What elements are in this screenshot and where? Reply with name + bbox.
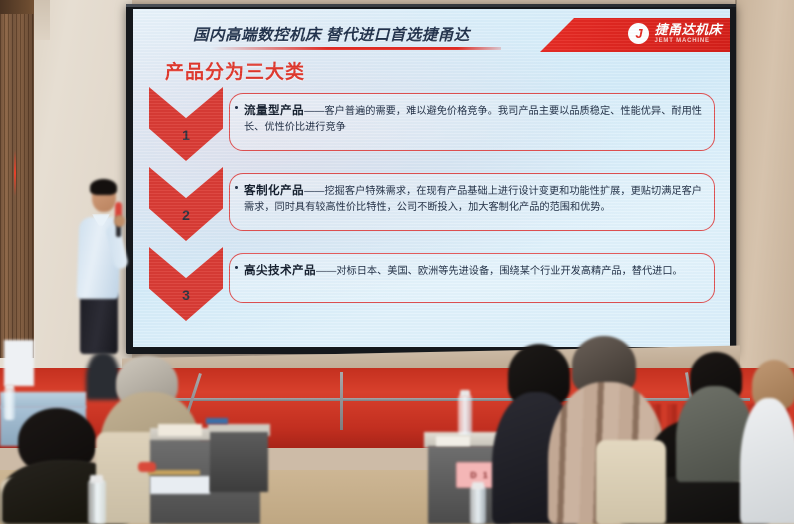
item-dash: ——: [316, 266, 336, 277]
left-poster: [4, 340, 34, 386]
bottle-cap: [472, 482, 484, 489]
water-bottle: [470, 486, 486, 524]
item-dash: ——: [304, 106, 324, 117]
chevron-outline: [149, 87, 223, 161]
table-pen: [148, 470, 200, 475]
item-term: 流量型产品: [244, 104, 304, 117]
chevron-marker-1: 1: [149, 87, 223, 161]
background-person: [86, 352, 120, 400]
bullet-point-icon: [235, 186, 238, 189]
banquet-chair: [596, 440, 666, 524]
slide-item-2: 2 客制化产品——挖掘客户特殊需求，在现有产品基础上进行设计变更和功能性扩展，更…: [149, 167, 715, 241]
frame-rail: [150, 398, 750, 401]
item-text-bubble-1: 流量型产品——客户普遍的需要，难以避免价格竞争。我司产品主要以品质稳定、性能优异…: [229, 93, 715, 151]
slide-header: 国内高端数控机床 替代进口首选捷甬达 J 捷甬达机床 JEMT MACHINE: [133, 15, 730, 55]
table-lanyard: [138, 462, 156, 472]
logo-company-cn: 捷甬达机床: [654, 23, 722, 36]
wall-led-accent: [14, 150, 16, 196]
audience-table-cloth: [210, 432, 268, 492]
chevron-marker-2: 2: [149, 167, 223, 241]
chevron-marker-3: 3: [149, 247, 223, 321]
item-paragraph: 客制化产品——挖掘客户特殊需求，在现有产品基础上进行设计变更和功能性扩展，更贴切…: [244, 182, 702, 216]
presenter-hand: [114, 215, 125, 227]
item-text-bubble-3: 高尖技术产品——对标日本、美国、欧洲等先进设备，围绕某个行业开发高精产品，替代进…: [229, 253, 715, 303]
table-number-label: D 1: [470, 470, 489, 480]
wall-recess: [34, 0, 50, 40]
logo-company-en: JEMT MACHINE: [654, 38, 722, 44]
chevron-outline: [149, 167, 223, 241]
chevron-number: 1: [149, 127, 223, 143]
water-bottle: [88, 480, 106, 524]
water-bottle: [4, 388, 15, 420]
item-text-bubble-2: 客制化产品——挖掘客户特殊需求，在现有产品基础上进行设计变更和功能性扩展，更贴切…: [229, 173, 715, 231]
chevron-outline: [149, 247, 223, 321]
item-dash: ——: [304, 186, 324, 197]
bottle-cap: [460, 390, 470, 397]
item-paragraph: 流量型产品——客户普遍的需要，难以避免价格竞争。我司产品主要以品质稳定、性能优异…: [244, 102, 702, 136]
chevron-number: 2: [149, 207, 223, 223]
presenter-trousers: [80, 292, 118, 354]
slide-item-3: 3 高尖技术产品——对标日本、美国、欧洲等先进设备，围绕某个行业开发高精产品，替…: [149, 247, 715, 321]
logo-emblem-icon: J: [628, 23, 649, 44]
table-paper: [158, 424, 202, 436]
logo-text-block: 捷甬达机床 JEMT MACHINE: [654, 23, 722, 44]
audience-person-white-shirt: [740, 398, 794, 524]
water-bottle: [458, 395, 472, 435]
bullet-point-icon: [235, 266, 238, 269]
company-logo: J 捷甬达机床 JEMT MACHINE: [628, 23, 722, 44]
table-handout: [150, 476, 210, 494]
item-paragraph: 高尖技术产品——对标日本、美国、欧洲等先进设备，围绕某个行业开发高精产品，替代进…: [244, 262, 702, 280]
frame-post: [340, 372, 343, 430]
bottle-cap: [5, 384, 14, 390]
presentation-slide: 国内高端数控机床 替代进口首选捷甬达 J 捷甬达机床 JEMT MACHINE …: [133, 9, 730, 347]
slide-header-underline: [211, 47, 501, 50]
item-term: 客制化产品: [244, 184, 304, 197]
table-card: [436, 436, 470, 446]
slide-item-1: 1 流量型产品——客户普遍的需要，难以避免价格竞争。我司产品主要以品质稳定、性能…: [149, 87, 715, 161]
logo-letter: J: [635, 27, 642, 40]
item-term: 高尖技术产品: [244, 264, 316, 277]
conference-room-photo: 国内高端数控机床 替代进口首选捷甬达 J 捷甬达机床 JEMT MACHINE …: [0, 0, 794, 524]
slide-header-title: 国内高端数控机床 替代进口首选捷甬达: [193, 23, 470, 45]
table-phone: [206, 418, 228, 424]
chevron-number: 3: [149, 287, 223, 303]
item-body: 对标日本、美国、欧洲等先进设备，围绕某个行业开发高精产品，替代进口。: [336, 266, 682, 277]
bottle-cap: [90, 475, 103, 483]
slide-title: 产品分为三大类: [165, 57, 305, 84]
bezel-top-highlight: [126, 4, 736, 7]
bullet-point-icon: [235, 106, 238, 109]
wood-grain-texture: [0, 8, 34, 358]
presenter-hair: [90, 179, 117, 195]
